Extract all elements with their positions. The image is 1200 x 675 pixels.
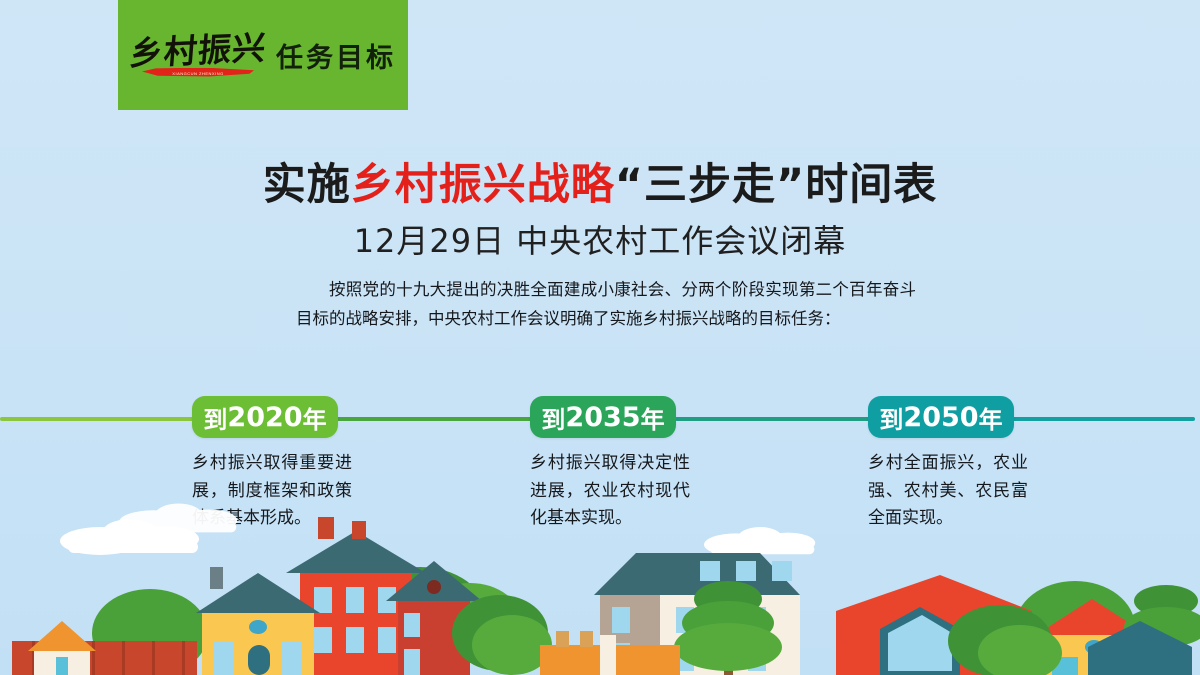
badge-suffix: 年 bbox=[979, 400, 1003, 435]
house-white-small bbox=[28, 621, 96, 675]
brush-stroke-icon: XIANGCUN ZHENXING bbox=[142, 68, 254, 77]
badge-suffix: 年 bbox=[641, 400, 665, 435]
timeline-line-segment-left bbox=[0, 417, 200, 421]
infographic-poster: 乡村振兴 XIANGCUN ZHENXING 任务目标 实施乡村振兴战略“三步走… bbox=[0, 0, 1200, 675]
badge-suffix: 年 bbox=[303, 400, 327, 435]
village-scene-svg bbox=[0, 495, 1200, 675]
badge-prefix: 到 bbox=[879, 400, 903, 435]
badge-prefix: 到 bbox=[541, 400, 565, 435]
brand-name-cn: 乡村振兴 bbox=[128, 31, 267, 70]
title-suffix: “三步走”时间表 bbox=[615, 160, 938, 210]
badge-year: 2020 bbox=[227, 402, 302, 433]
page-subtitle: 12月29日 中央农村工作会议闭幕 bbox=[0, 216, 1200, 262]
timeline-line-segment-1 bbox=[330, 417, 545, 421]
title-highlight: 乡村振兴战略 bbox=[351, 160, 615, 210]
timeline: 到2020年 到2035年 到2050年 bbox=[0, 396, 1200, 442]
page-title: 实施乡村振兴战略“三步走”时间表 bbox=[0, 150, 1200, 212]
logo-banner: 乡村振兴 XIANGCUN ZHENXING 任务目标 bbox=[118, 0, 408, 110]
timeline-badge-2050[interactable]: 到2050年 bbox=[868, 396, 1014, 438]
timeline-line-segment-right bbox=[1000, 417, 1195, 421]
brand-logo: 乡村振兴 XIANGCUN ZHENXING bbox=[130, 34, 266, 77]
cloud-icon bbox=[60, 504, 815, 556]
badge-prefix: 到 bbox=[203, 400, 227, 435]
village-illustration bbox=[0, 495, 1200, 675]
badge-year: 2050 bbox=[903, 402, 978, 433]
brand-pinyin: XIANGCUN ZHENXING bbox=[172, 71, 223, 76]
timeline-badge-2035[interactable]: 到2035年 bbox=[530, 396, 676, 438]
badge-year: 2035 bbox=[565, 402, 640, 433]
timeline-badge-2020[interactable]: 到2020年 bbox=[192, 396, 338, 438]
title-prefix: 实施 bbox=[263, 160, 351, 210]
lede-paragraph: 按照党的十九大提出的决胜全面建成小康社会、分两个阶段实现第二个百年奋斗目标的战略… bbox=[296, 276, 916, 334]
logo-tagline: 任务目标 bbox=[276, 36, 396, 75]
timeline-line-segment-2 bbox=[675, 417, 875, 421]
